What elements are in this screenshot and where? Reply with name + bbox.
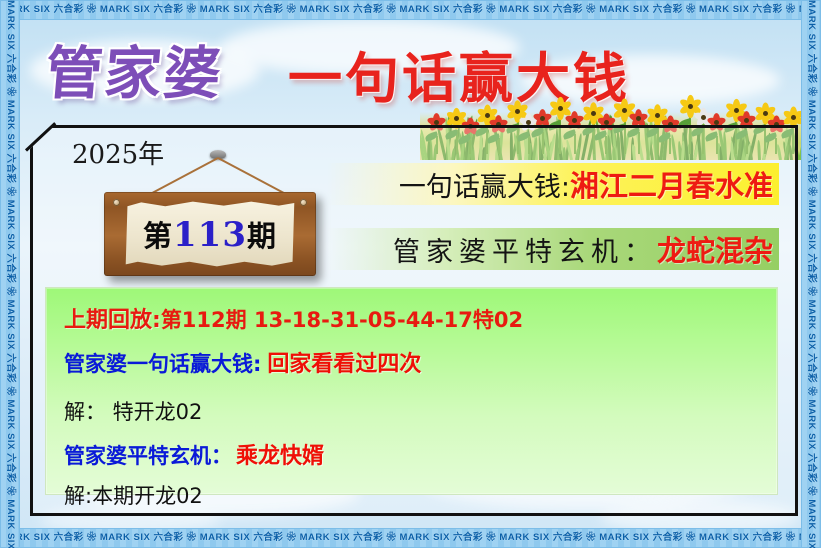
flower-icon (786, 110, 800, 124)
row-slogan-answer: 管家婆一句话赢大钱: 回家看看过四次 (64, 346, 777, 378)
last-draw-label: 上期回放: (64, 302, 161, 334)
flower-icon (742, 116, 751, 125)
marquee-rotate-wrap: MARK SIX 六合彩 ❀ MARK SIX 六合彩 ❀ MARK SIX 六… (801, 0, 821, 548)
marquee-border-left: MARK SIX 六合彩 ❀ MARK SIX 六合彩 ❀ MARK SIX 六… (0, 0, 20, 548)
pingte-answer-value: 乘龙快婿 (236, 438, 324, 470)
banner-slogan-prediction: 一句话赢大钱:湘江二月春水准 (327, 163, 779, 205)
marquee-text: MARK SIX 六合彩 ❀ MARK SIX 六合彩 ❀ MARK SIX 六… (801, 0, 821, 548)
flower-icon (538, 114, 547, 123)
banner-value: 龙蛇混杂 (657, 228, 773, 270)
issue-prefix: 第 (143, 219, 173, 253)
issue-suffix: 期 (247, 219, 277, 253)
flower-icon (602, 118, 610, 126)
slogan-answer-value: 回家看看过四次 (267, 346, 421, 378)
slogan-answer-label: 管家婆一句话赢大钱: (64, 348, 261, 378)
flower-icon (552, 100, 568, 116)
details-panel: 上期回放: 第112期 13-18-31-05-44-17特02 管家婆一句话赢… (45, 287, 778, 495)
issue-number: 113 (173, 215, 247, 255)
lottery-poster: 管家婆 一句话赢大钱 2025年 第113期 一句话赢大钱:湘江二月春水准 管家… (0, 0, 821, 548)
banner-value: 湘江二月春水准 (570, 163, 773, 205)
flower-icon (634, 114, 643, 123)
issue-number-text: 第113期 (143, 213, 277, 255)
marquee-border-top: MARK SIX 六合彩 ❀ MARK SIX 六合彩 ❀ MARK SIX 六… (0, 0, 821, 20)
flower-icon (758, 106, 772, 120)
marquee-text: MARK SIX 六合彩 ❀ MARK SIX 六合彩 ❀ MARK SIX 六… (0, 0, 821, 20)
row-explanation-1: 解： 特开龙02 (64, 396, 777, 426)
year-label: 2025年 (72, 134, 164, 171)
marquee-border-bottom: MARK SIX 六合彩 ❀ MARK SIX 六合彩 ❀ MARK SIX 六… (0, 528, 821, 548)
signboard-paper: 第113期 (124, 201, 296, 267)
banner-label: 一句话赢大钱: (399, 165, 570, 204)
row-last-draw: 上期回放: 第112期 13-18-31-05-44-17特02 (64, 302, 777, 334)
flower-icon (570, 116, 579, 125)
banner-pingte-prediction: 管家婆平特玄机：龙蛇混杂 (327, 228, 779, 270)
banner-label: 管家婆平特玄机： (393, 230, 657, 269)
explanation-2-text: 解:本期开龙02 (64, 480, 203, 510)
pingte-answer-label: 管家婆平特玄机： (64, 440, 232, 470)
marquee-text: MARK SIX 六合彩 ❀ MARK SIX 六合彩 ❀ MARK SIX 六… (0, 0, 20, 548)
explanation-1-text: 解： 特开龙02 (64, 396, 202, 426)
frame-corner-cut (28, 123, 62, 157)
marquee-text: MARK SIX 六合彩 ❀ MARK SIX 六合彩 ❀ MARK SIX 六… (0, 528, 821, 548)
row-explanation-2: 解:本期开龙02 (64, 480, 777, 510)
issue-signboard: 第113期 (104, 192, 316, 276)
brand-title: 管家婆 (42, 28, 226, 110)
marquee-border-right: MARK SIX 六合彩 ❀ MARK SIX 六合彩 ❀ MARK SIX 六… (801, 0, 821, 548)
marquee-rotate-wrap: MARK SIX 六合彩 ❀ MARK SIX 六合彩 ❀ MARK SIX 六… (0, 0, 20, 548)
last-draw-value: 第112期 13-18-31-05-44-17特02 (161, 304, 523, 334)
row-pingte-answer: 管家婆平特玄机： 乘龙快婿 (64, 438, 777, 470)
